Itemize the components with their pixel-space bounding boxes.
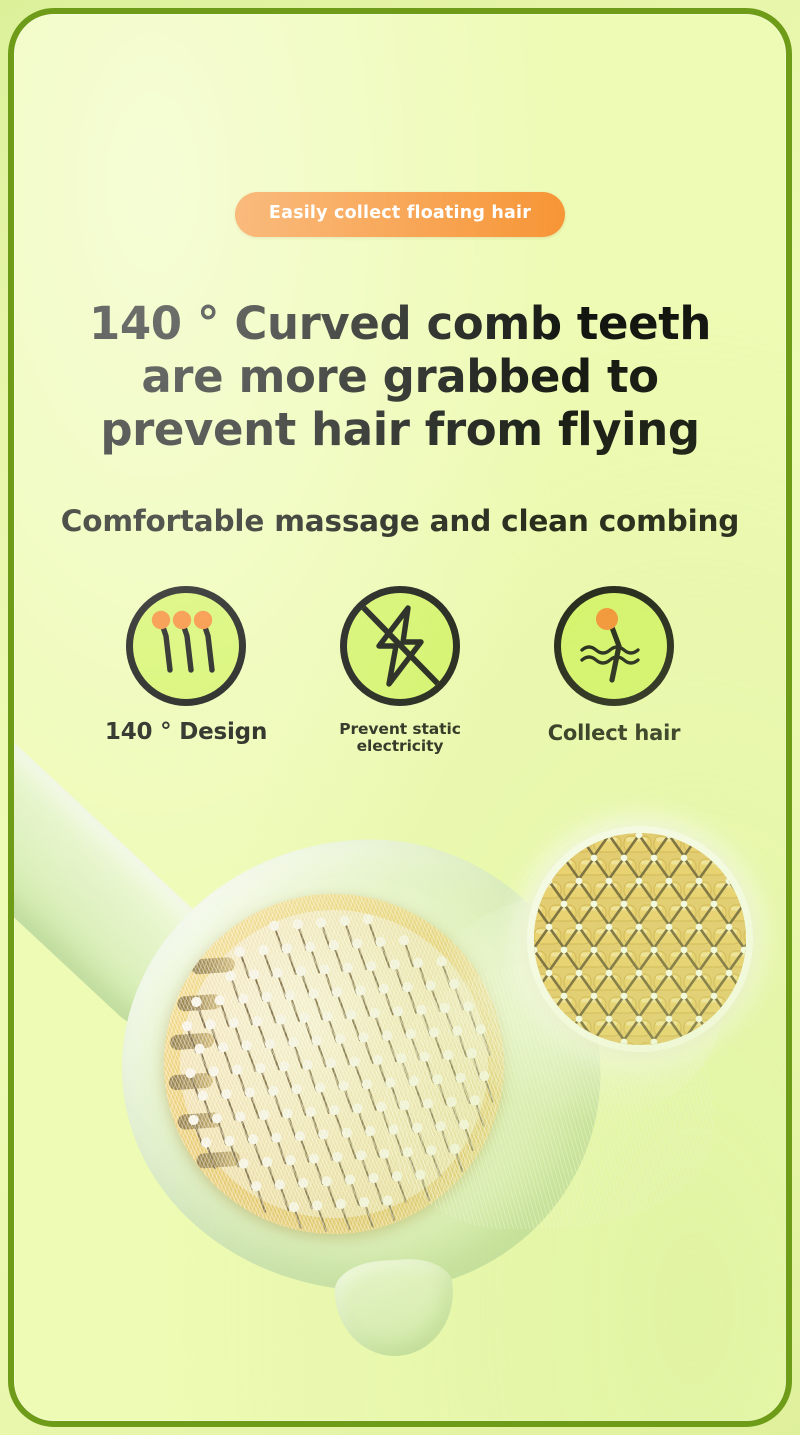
badge-row: Easily collect floating hair	[14, 192, 786, 237]
no-static-electricity-icon	[340, 586, 460, 706]
headline-line-1: 140 ° Curved comb teeth	[14, 297, 786, 350]
feature-label-140-design: 140 ° Design	[105, 720, 267, 746]
feature-label-prevent-static: Prevent static electricity	[339, 721, 461, 756]
feature-collect-hair: Collect hair	[534, 586, 694, 746]
feature-label-collect-hair: Collect hair	[548, 722, 681, 746]
curved-comb-teeth-icon	[126, 586, 246, 706]
feature-140-degree-design: 140 ° Design	[106, 586, 266, 746]
chevron-teeth-pattern	[534, 833, 746, 1045]
feature-label-line-2: electricity	[357, 737, 444, 755]
headline-line-2: are more grabbed to	[14, 350, 786, 403]
feature-label-line-1: Prevent static	[339, 720, 461, 738]
comb-teeth-closeup	[527, 826, 753, 1052]
page-subtitle: Comfortable massage and clean combing	[14, 503, 786, 539]
feature-prevent-static: Prevent static electricity	[320, 586, 480, 756]
collect-hair-icon	[554, 586, 674, 706]
page-frame: Easily collect floating hair 140 ° Curve…	[8, 8, 792, 1427]
headline-line-3: prevent hair from flying	[14, 403, 786, 456]
brush-bottom-tab	[333, 1256, 457, 1360]
page-title: 140 ° Curved comb teeth are more grabbed…	[14, 297, 786, 456]
easily-collect-floating-hair-badge: Easily collect floating hair	[235, 192, 565, 237]
feature-row: 140 ° Design Prevent static electricity	[14, 586, 786, 756]
